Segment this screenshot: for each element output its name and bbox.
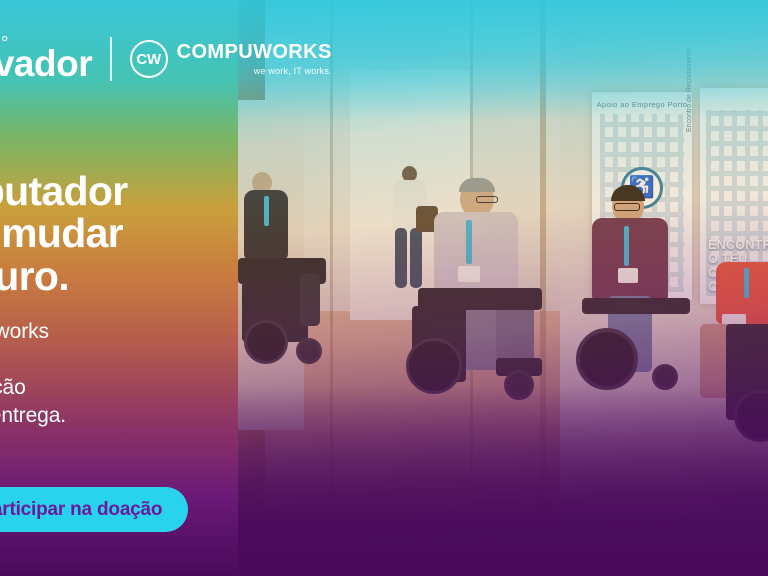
subcopy-line: dor entrega. bbox=[0, 402, 66, 430]
promo-banner: Apoio ao Emprego Porto ♿ Encontro de Rec… bbox=[0, 0, 768, 576]
subcopy-line: lifica. bbox=[0, 346, 66, 374]
logo-associacao-salvador[interactable]: CIAÇÃO alvador bbox=[0, 36, 92, 82]
page-title: da mputador de mudar futuro. bbox=[0, 128, 127, 297]
compuworks-wordmark: COMPUWORKS bbox=[177, 42, 332, 62]
logo-lockup: CIAÇÃO alvador CW COMPUWORKS we work, IT… bbox=[0, 36, 332, 82]
compuworks-tagline: we work, IT works. bbox=[177, 66, 332, 76]
headline-line: de mudar bbox=[0, 212, 127, 254]
headline-line: da bbox=[0, 128, 127, 170]
cw-monogram-icon: CW bbox=[130, 40, 168, 78]
hero-subcopy: mpuworks lifica. ociação dor entrega. bbox=[0, 318, 66, 430]
hero-content: CIAÇÃO alvador CW COMPUWORKS we work, IT… bbox=[0, 0, 768, 576]
compuworks-text: COMPUWORKS we work, IT works. bbox=[177, 42, 332, 76]
subcopy-line: ociação bbox=[0, 374, 66, 402]
subcopy-line: mpuworks bbox=[0, 318, 66, 346]
headline-line: futuro. bbox=[0, 255, 127, 297]
logo-divider bbox=[110, 37, 112, 81]
donate-cta-button[interactable]: o participar na doação bbox=[0, 487, 188, 532]
logo-wordmark: alvador bbox=[0, 45, 92, 82]
headline-line: mputador bbox=[0, 170, 127, 212]
logo-kicker: CIAÇÃO bbox=[0, 34, 9, 43]
logo-compuworks[interactable]: CW COMPUWORKS we work, IT works. bbox=[130, 40, 332, 78]
